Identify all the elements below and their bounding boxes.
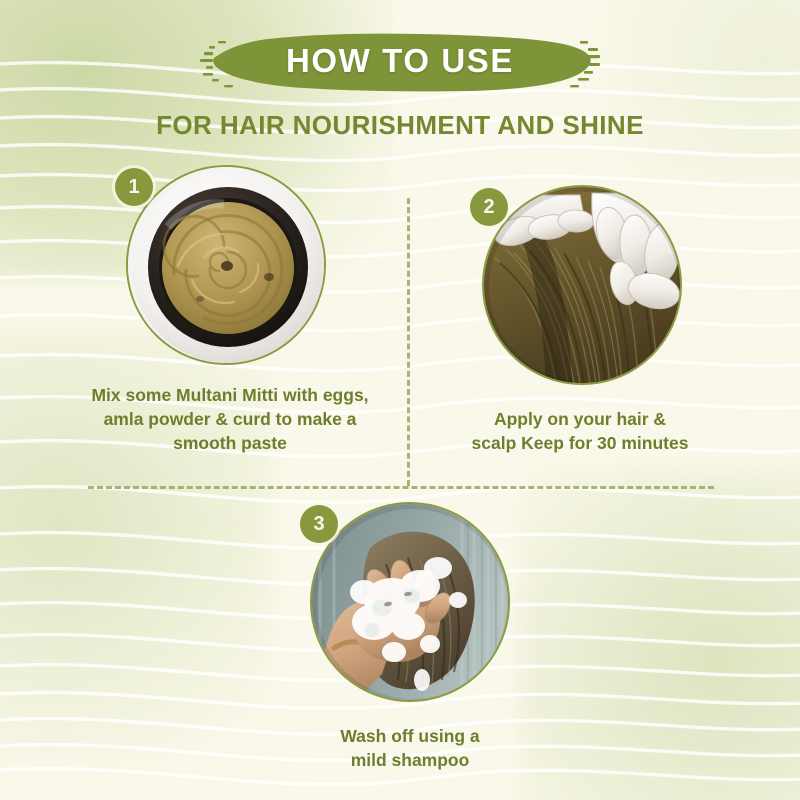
dashed-horizontal-divider: [88, 486, 714, 489]
step-1-photo-wrap: 1: [60, 165, 400, 365]
page-title: HOW TO USE: [200, 28, 600, 96]
poster-header: HOW TO USE FOR HAIR NOURISHMENT AND SHIN…: [0, 28, 800, 141]
washing-hair-shampoo-illustration: [312, 504, 510, 702]
multani-mitti-paste-bowl-illustration: [128, 167, 326, 365]
step-3: 3: [250, 502, 570, 772]
step-1-caption: Mix some Multani Mitti with eggs, amla p…: [60, 383, 400, 455]
step-3-photo-wrap: 3: [250, 502, 570, 702]
dashed-vertical-divider: [407, 198, 410, 486]
step-2-image: [482, 185, 682, 385]
applying-paste-to-hair-illustration: [484, 187, 682, 385]
step-1-image: [126, 165, 326, 365]
step-3-image: [310, 502, 510, 702]
step-2-caption: Apply on your hair & scalp Keep for 30 m…: [420, 407, 740, 455]
step-2: 2: [420, 185, 740, 455]
step-2-photo-wrap: 2: [420, 185, 740, 385]
step-1-number-badge: 1: [115, 168, 153, 206]
step-2-number-badge: 2: [470, 188, 508, 226]
step-3-caption: Wash off using a mild shampoo: [250, 724, 570, 772]
title-brush-stroke: HOW TO USE: [200, 28, 600, 96]
step-1: 1: [60, 165, 400, 455]
infographic-poster: HOW TO USE FOR HAIR NOURISHMENT AND SHIN…: [0, 0, 800, 800]
step-3-number-badge: 3: [300, 505, 338, 543]
page-subtitle: FOR HAIR NOURISHMENT AND SHINE: [0, 110, 800, 141]
